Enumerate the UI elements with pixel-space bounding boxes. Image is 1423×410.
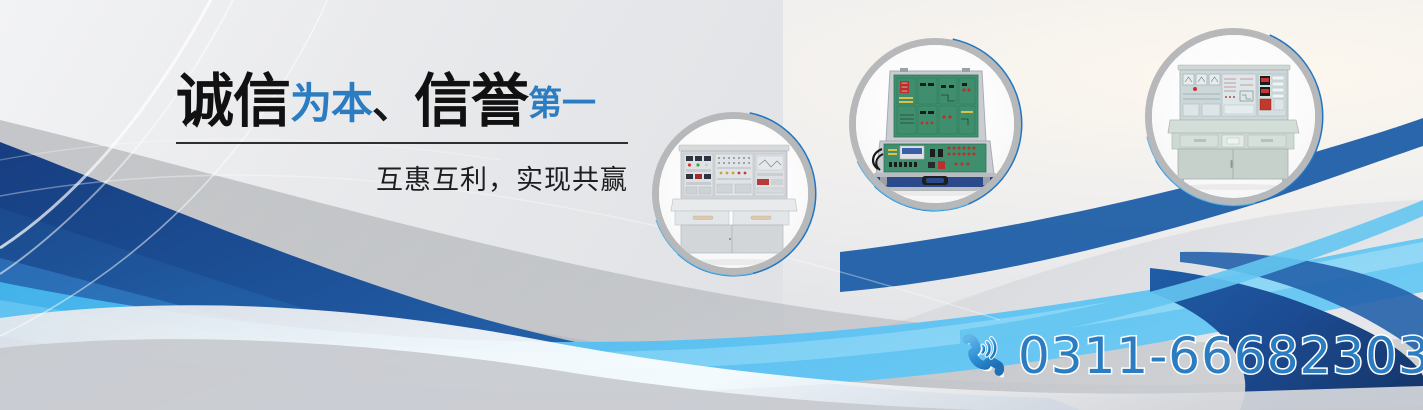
workbench-illustration-1 bbox=[659, 119, 808, 268]
machinery-bench-illustration bbox=[1152, 35, 1315, 198]
headline-part-3: 、 bbox=[372, 79, 414, 128]
product-circle-2[interactable] bbox=[849, 38, 1021, 210]
suitcase-kit-illustration bbox=[856, 45, 1014, 203]
headline-part-2: 为本 bbox=[290, 79, 372, 128]
product-image-1 bbox=[659, 119, 808, 268]
headline-part-4: 信誉 bbox=[414, 67, 528, 135]
page-title: 诚信为本、信誉第一 bbox=[176, 72, 628, 130]
product-image-3 bbox=[1152, 35, 1315, 198]
subtitle: 互惠互利，实现共赢 bbox=[176, 158, 628, 197]
phone-number[interactable]: 0311-66682303 bbox=[1018, 327, 1423, 385]
product-image-2 bbox=[856, 45, 1014, 203]
product-circle-1[interactable] bbox=[652, 112, 815, 275]
headline-block: 诚信为本、信誉第一 互惠互利，实现共赢 bbox=[176, 72, 628, 197]
phone-call-icon bbox=[956, 332, 1004, 380]
headline-part-1: 诚信 bbox=[176, 67, 290, 135]
headline-divider bbox=[176, 142, 628, 144]
headline-part-5: 第一 bbox=[528, 84, 596, 124]
contact-phone-block[interactable]: 0311-66682303 bbox=[956, 327, 1423, 385]
product-circle-3[interactable] bbox=[1145, 28, 1322, 205]
promo-banner: 诚信为本、信誉第一 互惠互利，实现共赢 bbox=[0, 0, 1423, 410]
